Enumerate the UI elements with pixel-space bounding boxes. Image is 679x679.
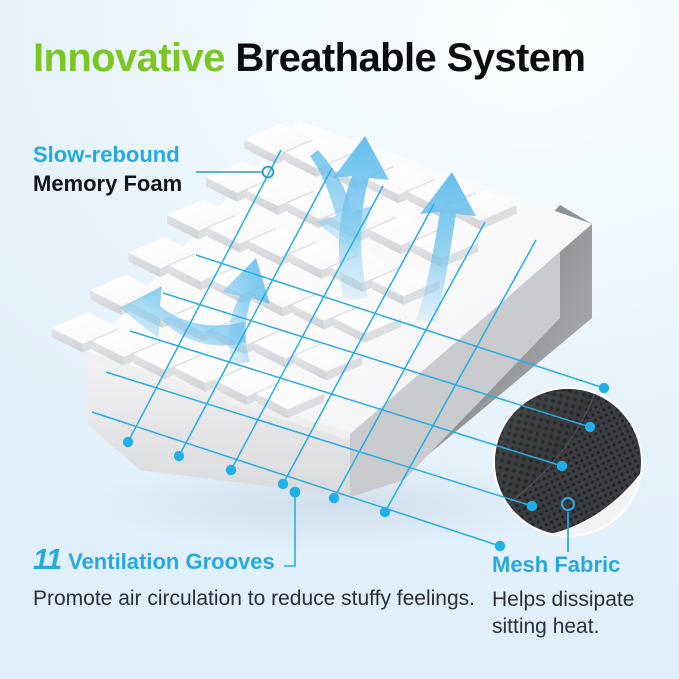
callout-mesh-fabric: Mesh Fabric Helps dissipate sitting heat…	[492, 552, 679, 641]
groove-dot-9	[557, 461, 567, 471]
memory-foam-leader	[196, 167, 273, 178]
groove-dot-8	[585, 422, 595, 432]
callout-ventilation-title: Ventilation Grooves	[68, 549, 275, 575]
callout-memory-foam-title: Memory Foam	[33, 171, 182, 197]
page-title: Innovative Breathable System	[33, 36, 585, 80]
callout-memory-foam-accent-title: Slow-rebound	[33, 142, 182, 168]
groove-endpoint-dots	[123, 383, 609, 551]
callout-ventilation-title-row: 11 Ventilation Grooves	[33, 543, 475, 577]
groove-dot-11	[495, 541, 505, 551]
mesh-fabric-leader	[562, 498, 574, 552]
callout-ventilation-body: Promote air circulation to reduce stuffy…	[33, 586, 475, 613]
headline-accent-word: Innovative	[33, 36, 225, 80]
callout-mesh-title: Mesh Fabric	[492, 552, 679, 578]
groove-dot-10	[527, 501, 537, 511]
groove-dot-1	[123, 437, 133, 447]
groove-dot-3	[226, 465, 236, 475]
callout-memory-foam: Slow-rebound Memory Foam	[33, 142, 182, 197]
ventilation-groove-count: 11	[33, 543, 61, 577]
groove-dot-7	[599, 383, 609, 393]
infographic-canvas: Innovative Breathable System Slow-reboun…	[0, 0, 679, 679]
mesh-marker-circle	[562, 498, 574, 510]
groove-dot-5	[329, 493, 339, 503]
headline-rest: Breathable System	[235, 36, 585, 80]
groove-dot-6	[380, 507, 390, 517]
groove-lines-axis-b	[92, 255, 604, 546]
groove-dot-2	[174, 451, 184, 461]
groove-dot-4	[278, 479, 288, 489]
ventilation-marker-dot	[290, 487, 301, 498]
callout-mesh-body: Helps dissipate sitting heat.	[492, 587, 679, 641]
callout-ventilation-grooves: 11 Ventilation Grooves Promote air circu…	[33, 543, 475, 613]
groove-lines-axis-a	[128, 150, 536, 512]
